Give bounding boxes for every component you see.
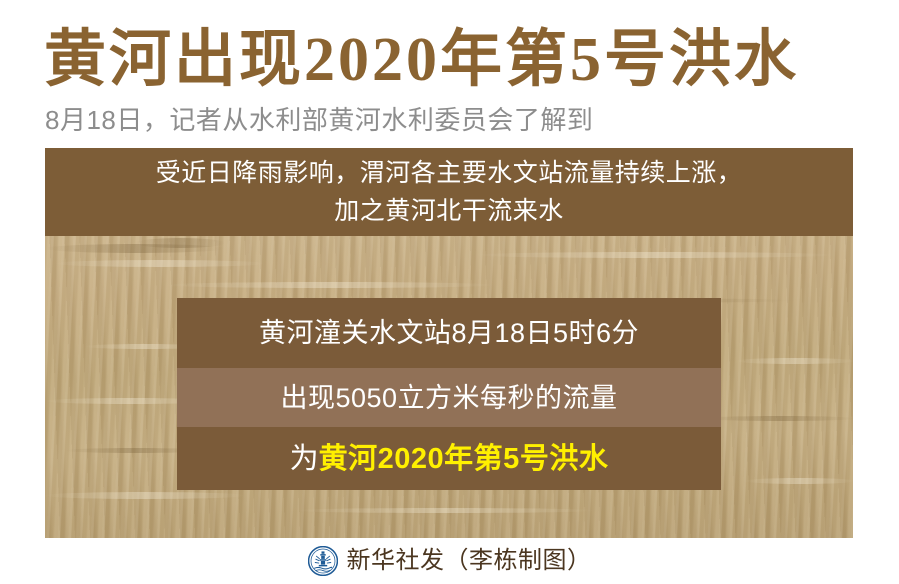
xinhua-news-agency-logo: [308, 546, 338, 576]
water-ripple-shadow: [45, 244, 225, 253]
caption-banner: 受近日降雨影响，渭河各主要水文站流量持续上涨， 加之黄河北干流来水: [45, 148, 853, 236]
caption-banner-line-2: 加之黄河北干流来水: [334, 192, 564, 230]
river-photo: 受近日降雨影响，渭河各主要水文站流量持续上涨， 加之黄河北干流来水 黄河潼关水文…: [45, 148, 853, 538]
fact-band-text: 黄河潼关水文站8月18日5时6分: [259, 316, 639, 350]
water-ripple-shadow: [135, 238, 225, 248]
footer-credit-text: 新华社发（李栋制图）: [347, 546, 592, 576]
water-ripple-shadow: [705, 416, 853, 421]
footer: 新华社发（李栋制图）: [0, 538, 899, 584]
fact-band-lead-text: 为: [290, 441, 319, 477]
fact-band-discharge: 出现5050立方米每秒的流量: [177, 368, 721, 427]
water-ripple-highlight: [55, 260, 265, 267]
water-ripple-highlight: [295, 508, 595, 513]
caption-banner-line-1: 受近日降雨影响，渭河各主要水文站流量持续上涨，: [156, 154, 743, 192]
fact-band-station-time: 黄河潼关水文站8月18日5时6分: [177, 298, 721, 368]
page-title: 黄河出现2020年第5号洪水: [44, 22, 856, 98]
fact-band-highlight-text: 黄河2020年第5号洪水: [319, 441, 609, 477]
water-ripple-highlight: [735, 358, 853, 364]
water-ripple-highlight: [745, 478, 853, 484]
fact-band-flood-designation: 为 黄河2020年第5号洪水: [177, 427, 721, 490]
water-ripple-highlight: [475, 252, 835, 258]
water-ripple-highlight: [45, 492, 245, 499]
fact-band-text: 出现5050立方米每秒的流量: [280, 381, 617, 415]
fact-box: 黄河潼关水文站8月18日5时6分 出现5050立方米每秒的流量 为 黄河2020…: [177, 298, 721, 490]
header-block: 黄河出现2020年第5号洪水 8月18日，记者从水利部黄河水利委员会了解到: [0, 0, 899, 148]
page-subtitle: 8月18日，记者从水利部黄河水利委员会了解到: [45, 103, 857, 137]
water-ripple-highlight: [165, 282, 495, 288]
